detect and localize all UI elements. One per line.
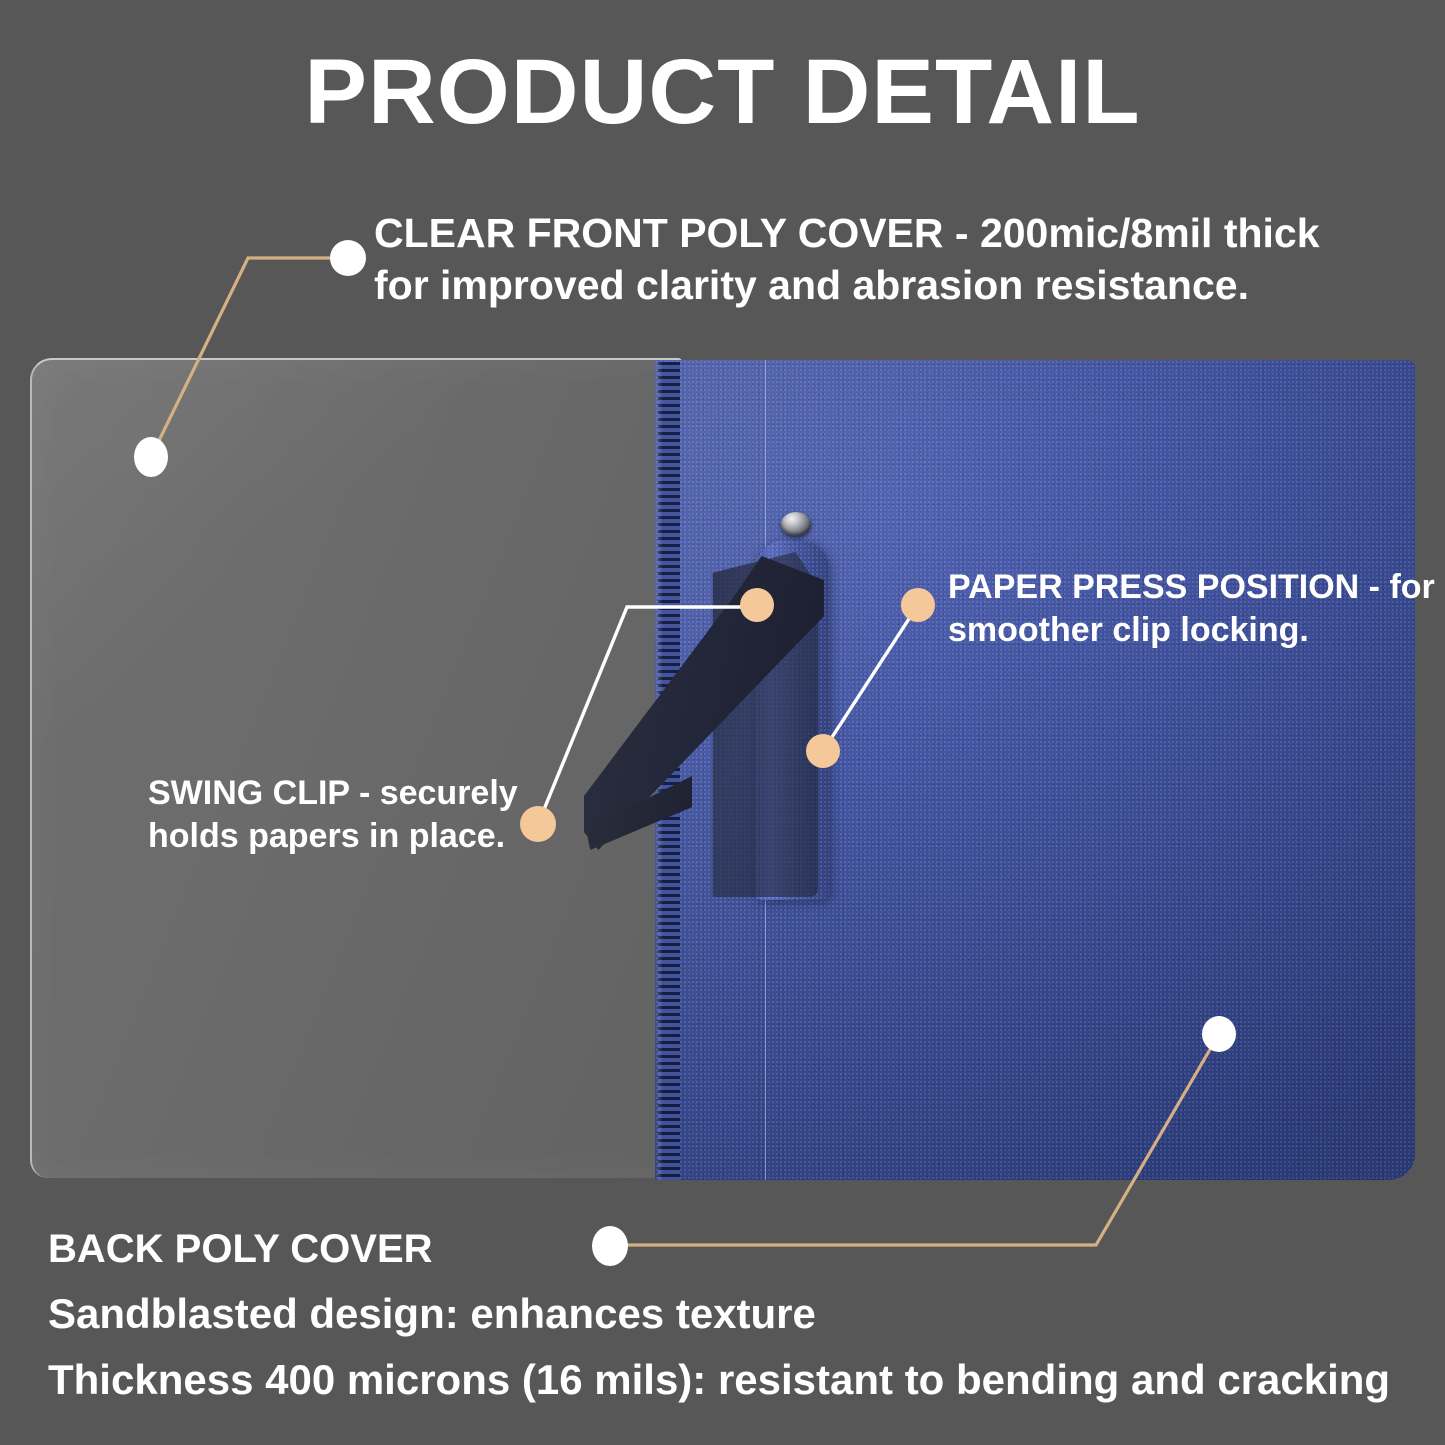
callout-swing-clip-line2: holds papers in place.	[148, 815, 518, 858]
callout-clear-front-cover-line1: CLEAR FRONT POLY COVER - 200mic/8mil thi…	[374, 208, 1320, 260]
fold-crease-line	[765, 360, 766, 1180]
back-poly-cover-image	[655, 360, 1415, 1180]
callout-dot-back-cover-label[interactable]	[592, 1226, 628, 1266]
infographic-canvas: PRODUCT DETAIL CLEAR FRONT POLY COVER - …	[0, 0, 1445, 1445]
callout-dot-paper-press-label[interactable]	[901, 588, 935, 622]
ribbed-spine	[658, 362, 680, 1180]
callout-back-cover-line2-text: Thickness 400 microns (16 mils): resista…	[48, 1354, 1390, 1407]
callout-dot-swing-clip-label[interactable]	[520, 806, 556, 842]
front-poly-cover-image	[30, 358, 682, 1178]
callout-back-cover-heading-text: BACK POLY COVER	[48, 1224, 433, 1274]
callout-paper-press-line2: smoother clip locking.	[948, 609, 1435, 652]
callout-back-cover-line2: Thickness 400 microns (16 mils): resista…	[48, 1354, 1390, 1407]
page-title: PRODUCT DETAIL	[0, 46, 1445, 138]
callout-dot-swing-clip-point[interactable]	[740, 588, 774, 622]
callout-swing-clip: SWING CLIP - securely holds papers in pl…	[148, 772, 518, 858]
callout-paper-press-position: PAPER PRESS POSITION - for smoother clip…	[948, 566, 1435, 652]
callout-dot-clear-front-cover-point[interactable]	[134, 437, 168, 477]
callout-back-cover-heading: BACK POLY COVER	[48, 1224, 433, 1274]
callout-back-cover-line1: Sandblasted design: enhances texture	[48, 1288, 816, 1341]
callout-dot-back-cover-point[interactable]	[1202, 1016, 1236, 1052]
callout-dot-clear-front-cover-label[interactable]	[330, 240, 366, 276]
callout-dot-paper-press-point[interactable]	[806, 734, 840, 768]
callout-back-cover-line1-text: Sandblasted design: enhances texture	[48, 1288, 816, 1341]
callout-clear-front-cover-line2: for improved clarity and abrasion resist…	[374, 260, 1320, 312]
callout-clear-front-cover: CLEAR FRONT POLY COVER - 200mic/8mil thi…	[374, 208, 1320, 311]
callout-paper-press-line1: PAPER PRESS POSITION - for	[948, 566, 1435, 609]
callout-swing-clip-line1: SWING CLIP - securely	[148, 772, 518, 815]
cover-sheen	[655, 360, 1415, 1180]
